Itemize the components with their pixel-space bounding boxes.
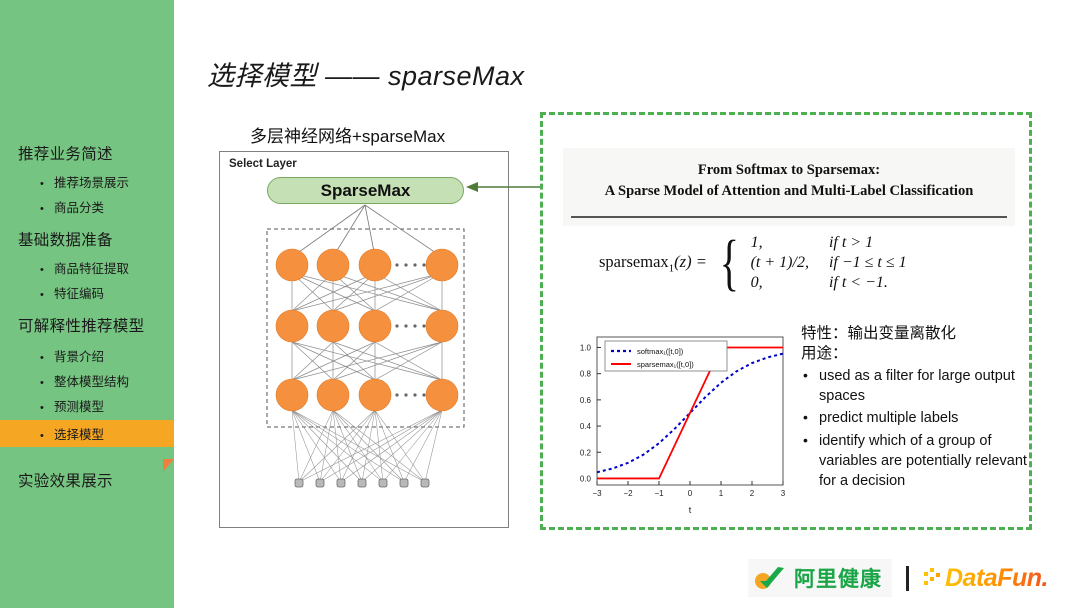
sidebar-section-1[interactable]: 基础数据准备	[0, 228, 174, 250]
formula-case-row: (t + 1)/2, if −1 ≤ t ≤ 1	[751, 253, 907, 273]
formula-case-condition: if t > 1	[809, 233, 907, 253]
sidebar: 推荐业务简述 •推荐场景展示 •商品分类 基础数据准备 •商品特征提取 •特征编…	[0, 0, 174, 608]
footer-separator	[906, 566, 909, 591]
usage-bullet: identify which of a group of variables a…	[801, 432, 1033, 491]
bullet-icon: •	[40, 264, 54, 276]
datafun-logo: DataFun.	[923, 564, 1048, 593]
svg-text:3: 3	[781, 489, 786, 498]
sidebar-item-label: 整体模型结构	[54, 375, 129, 389]
svg-text:softmax₁([t,0]): softmax₁([t,0])	[637, 347, 684, 356]
svg-text:0.4: 0.4	[580, 422, 592, 431]
sidebar-item-product-category[interactable]: •商品分类	[0, 197, 174, 216]
svg-text:2: 2	[750, 489, 755, 498]
svg-text:−1: −1	[654, 489, 664, 498]
sidebar-item-background[interactable]: •背景介绍	[0, 346, 174, 365]
sidebar-section-label: 实验效果展示	[18, 473, 113, 490]
bullet-icon: •	[40, 289, 54, 301]
svg-text:0.8: 0.8	[580, 370, 592, 379]
formula-case-value: 1,	[751, 233, 809, 253]
svg-text:0: 0	[688, 489, 693, 498]
formula-brace-icon: {	[719, 238, 744, 289]
sidebar-item-model-structure[interactable]: •整体模型结构	[0, 371, 174, 390]
usage-line-2: 用途：	[801, 344, 1033, 364]
sidebar-section-label: 可解释性推荐模型	[18, 318, 144, 335]
usage-bullet: used as a filter for large output spaces	[801, 367, 1033, 406]
datafun-dots-icon	[923, 566, 945, 590]
sidebar-item-label: 商品特征提取	[54, 262, 129, 276]
formula-case-row: 0, if t < −1.	[751, 273, 907, 293]
svg-text:−2: −2	[623, 489, 633, 498]
svg-text:1: 1	[719, 489, 724, 498]
sparsemax-formula: sparsemax1(z) = { 1, if t > 1 (t + 1)/2,…	[599, 233, 907, 293]
sidebar-item-feature-extract[interactable]: •商品特征提取	[0, 258, 174, 277]
footer-logos: 阿里健康 DataFun.	[748, 556, 1048, 600]
bullet-icon: •	[40, 178, 54, 190]
sidebar-item-label: 商品分类	[54, 201, 104, 215]
paper-title-line-1: From Softmax to Sparsemax:	[563, 160, 1015, 181]
sidebar-item-recommend-scenes[interactable]: •推荐场景展示	[0, 172, 174, 191]
sidebar-section-2[interactable]: 可解释性推荐模型	[0, 314, 174, 336]
sidebar-item-label: 预测模型	[54, 400, 104, 414]
sidebar-item-label: 推荐场景展示	[54, 176, 129, 190]
sidebar-item-select-model[interactable]: •选择模型	[0, 420, 174, 447]
paper-reference-panel: From Softmax to Sparsemax: A Sparse Mode…	[540, 112, 1032, 530]
usage-bullet: predict multiple labels	[801, 409, 1033, 429]
alihealth-logo: 阿里健康	[748, 559, 892, 597]
sidebar-section-3[interactable]: 实验效果展示	[0, 469, 174, 491]
usage-line-1: 特性：输出变量离散化	[801, 324, 1033, 344]
sidebar-section-0[interactable]: 推荐业务简述	[0, 142, 174, 164]
sidebar-item-label: 背景介绍	[54, 350, 104, 364]
svg-text:0.0: 0.0	[580, 474, 592, 483]
formula-lhs: sparsemax1(z) =	[599, 252, 713, 274]
formula-case-value: (t + 1)/2,	[751, 253, 809, 273]
svg-text:−3: −3	[592, 489, 602, 498]
connector-arrow-icon	[462, 177, 544, 197]
bullet-icon: •	[40, 352, 54, 364]
bullet-icon: •	[40, 430, 54, 442]
sidebar-section-label: 推荐业务简述	[18, 146, 113, 163]
alihealth-label: 阿里健康	[794, 563, 882, 593]
select-layer-panel: Select Layer SparseMax	[219, 151, 509, 528]
bullet-icon: •	[40, 203, 54, 215]
svg-text:t: t	[689, 505, 692, 515]
svg-text:sparsemax₁([t,0]): sparsemax₁([t,0])	[637, 360, 694, 369]
usage-notes: 特性：输出变量离散化 用途： used as a filter for larg…	[801, 324, 1033, 494]
formula-case-condition: if −1 ≤ t ≤ 1	[809, 253, 907, 273]
sidebar-item-label: 特征编码	[54, 287, 104, 301]
sidebar-item-feature-encoding[interactable]: •特征编码	[0, 283, 174, 302]
paper-divider	[571, 216, 1007, 218]
formula-case-value: 0,	[751, 273, 809, 293]
svg-text:1.0: 1.0	[580, 343, 592, 352]
alihealth-mark-icon	[754, 565, 788, 591]
paper-title-card: From Softmax to Sparsemax: A Sparse Mode…	[563, 148, 1015, 226]
svg-text:0.2: 0.2	[580, 448, 592, 457]
network-caption: 多层神经网络+sparseMax	[250, 122, 445, 147]
sparsemax-chart: 0.00.20.40.60.81.0−3−2−10123tsoftmax₁([t…	[555, 327, 795, 517]
sidebar-item-label: 选择模型	[54, 428, 104, 442]
formula-case-row: 1, if t > 1	[751, 233, 907, 253]
formula-case-condition: if t < −1.	[809, 273, 907, 293]
datafun-label: DataFun.	[945, 564, 1048, 593]
chart-svg: 0.00.20.40.60.81.0−3−2−10123tsoftmax₁([t…	[555, 327, 795, 517]
paper-title-line-2: A Sparse Model of Attention and Multi-La…	[563, 181, 1015, 202]
page-title: 选择模型 —— sparseMax	[207, 54, 525, 93]
usage-bullet-list: used as a filter for large output spaces…	[801, 367, 1033, 491]
bullet-icon: •	[40, 377, 54, 389]
bullet-icon: •	[40, 402, 54, 414]
formula-cases: 1, if t > 1 (t + 1)/2, if −1 ≤ t ≤ 1 0, …	[751, 233, 907, 293]
sidebar-section-label: 基础数据准备	[18, 232, 113, 249]
neural-network-graphic	[220, 152, 510, 529]
svg-text:0.6: 0.6	[580, 396, 592, 405]
sidebar-item-predict-model[interactable]: •预测模型	[0, 396, 174, 415]
